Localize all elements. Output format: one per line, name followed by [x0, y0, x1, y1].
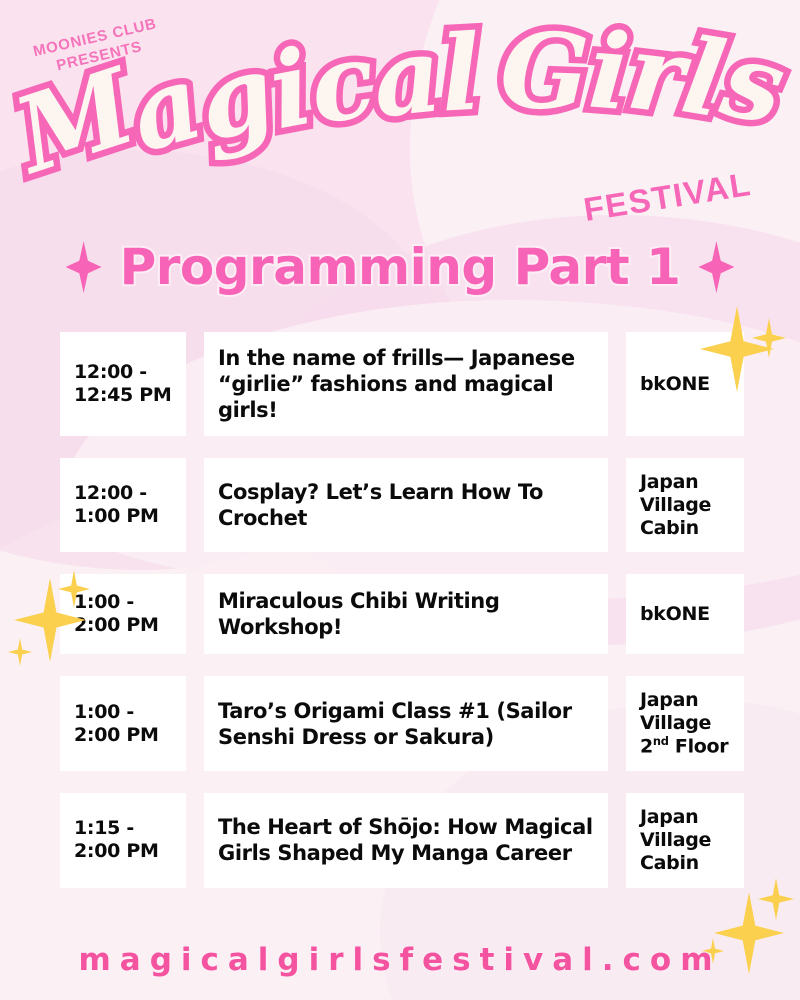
- schedule-session-cell: The Heart of Shōjo: How Magical Girls Sh…: [204, 793, 608, 887]
- wordmark-arch-text: Magical Girls: [15, 33, 785, 173]
- schedule-time-cell: 1:00 - 2:00 PM: [60, 676, 186, 771]
- schedule-session-title: Miraculous Chibi Writing Workshop!: [218, 588, 594, 640]
- schedule-location-cell: bkONE: [626, 574, 744, 654]
- schedule-time-text: 1:15 - 2:00 PM: [74, 817, 172, 863]
- wordmark-letter: G: [499, 21, 591, 121]
- schedule-time-text: 1:00 - 2:00 PM: [74, 591, 172, 637]
- schedule-time-cell: 12:00 - 1:00 PM: [60, 458, 186, 552]
- schedule-location-text: bkONE: [640, 603, 730, 626]
- schedule-location-cell: bkONE: [626, 332, 744, 436]
- schedule-row: 1:00 - 2:00 PMTaro’s Origami Class #1 (S…: [60, 676, 744, 771]
- sparkle-diamond-left-icon: [66, 241, 102, 293]
- schedule-location-text: bkONE: [640, 373, 730, 396]
- schedule-location-cell: Japan Village Cabin: [626, 458, 744, 552]
- schedule-session-cell: Cosplay? Let’s Learn How To Crochet: [204, 458, 608, 552]
- schedule-row: 12:00 - 1:00 PMCosplay? Let’s Learn How …: [60, 458, 744, 552]
- schedule-time-text: 1:00 - 2:00 PM: [74, 701, 172, 747]
- schedule-session-title: The Heart of Shōjo: How Magical Girls Sh…: [218, 814, 594, 866]
- schedule-time-cell: 12:00 - 12:45 PM: [60, 332, 186, 436]
- schedule-location-text: Japan Village Cabin: [640, 806, 730, 874]
- section-heading: Programming Part 1: [0, 238, 800, 296]
- schedule-location-cell: JapanVillage2nd Floor: [626, 676, 744, 771]
- schedule-time-cell: 1:00 - 2:00 PM: [60, 574, 186, 654]
- schedule-session-title: Taro’s Origami Class #1 (Sailor Senshi D…: [218, 698, 594, 750]
- wordmark-letter: a: [369, 25, 446, 129]
- sparkle-diamond-right-icon: [698, 241, 734, 293]
- schedule-location-text: JapanVillage2nd Floor: [640, 689, 730, 758]
- schedule-session-cell: Taro’s Origami Class #1 (Sailor Senshi D…: [204, 676, 608, 771]
- wordmark-letter: c: [304, 30, 381, 136]
- schedule-session-title: In the name of frills— Japanese “girlie”…: [218, 345, 594, 423]
- schedule-location-cell: Japan Village Cabin: [626, 793, 744, 887]
- schedule-location-text: Japan Village Cabin: [640, 471, 730, 539]
- schedule-time-text: 12:00 - 12:45 PM: [74, 361, 172, 407]
- schedule-time-text: 12:00 - 1:00 PM: [74, 482, 172, 528]
- poster-canvas: MOONIES CLUB PRESENTS Magical Girls FEST…: [0, 0, 800, 1000]
- wordmark-letter: [480, 24, 501, 122]
- schedule-row: 1:15 - 2:00 PMThe Heart of Shōjo: How Ma…: [60, 793, 744, 887]
- wordmark-letter: l: [438, 24, 483, 124]
- schedule-time-cell: 1:15 - 2:00 PM: [60, 793, 186, 887]
- page-title: Programming Part 1: [120, 238, 681, 296]
- schedule-session-cell: Miraculous Chibi Writing Workshop!: [204, 574, 608, 654]
- schedule-list: 12:00 - 12:45 PMIn the name of frills— J…: [60, 332, 744, 910]
- website-footer: magicalgirlsfestival.com: [0, 942, 800, 978]
- schedule-session-title: Cosplay? Let’s Learn How To Crochet: [218, 479, 594, 531]
- schedule-row: 1:00 - 2:00 PMMiraculous Chibi Writing W…: [60, 574, 744, 654]
- schedule-row: 12:00 - 12:45 PMIn the name of frills— J…: [60, 332, 744, 436]
- schedule-session-cell: In the name of frills— Japanese “girlie”…: [204, 332, 608, 436]
